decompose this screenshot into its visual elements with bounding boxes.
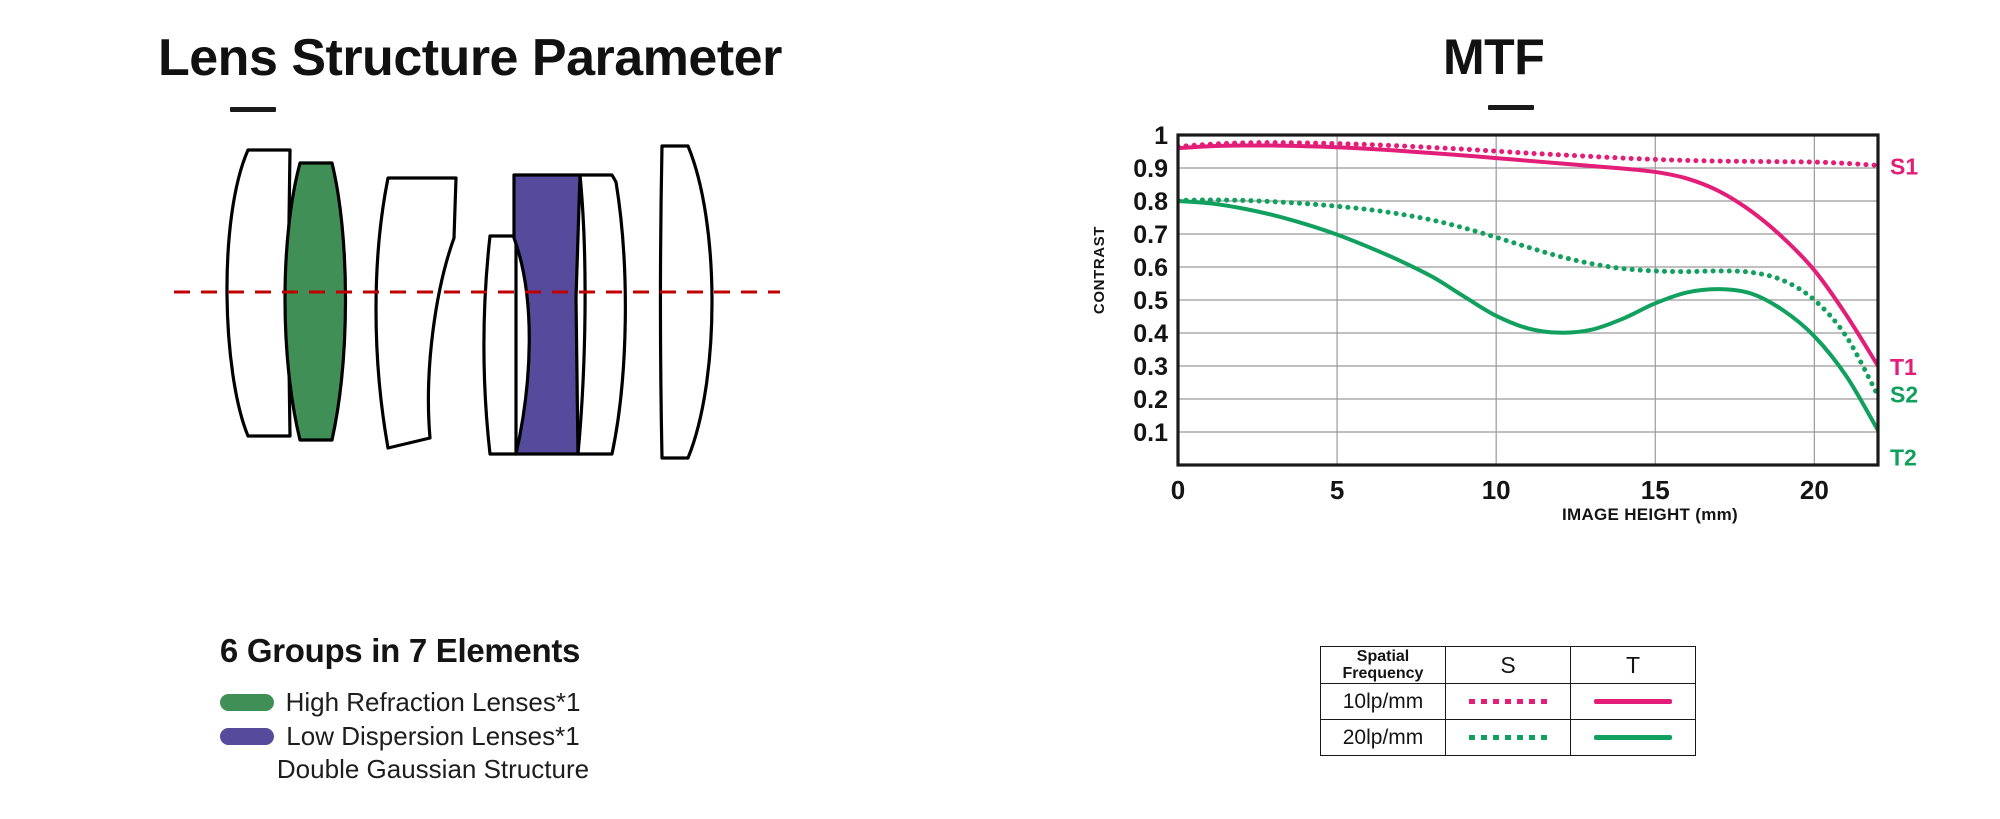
y-tick-label: 0.6 [1133,254,1168,282]
legend-header-s: S [1446,647,1571,684]
y-tick-label: 0.8 [1133,188,1168,216]
lens-element-4 [484,236,516,454]
dotted-green-line-sample [1469,735,1547,740]
legend-sample-t-20lpmm [1571,720,1696,756]
legend-sample-t-10lpmm [1571,684,1696,720]
legend-header-spatial-frequency: Spatial Frequency [1321,647,1446,684]
x-tick-label: 20 [1800,475,1829,505]
legend-header-line-1: Spatial [1321,648,1445,665]
x-tick-label: 5 [1330,475,1344,505]
y-axis-title: CONTRAST [1091,226,1108,314]
series-end-label-s2: S2 [1890,382,1918,408]
high-refraction-color-swatch [220,694,274,711]
groups-elements-caption: 6 Groups in 7 Elements [0,632,800,670]
lens-material-legend: High Refraction Lenses*1 Low Dispersion … [0,687,800,786]
double-gaussian-label: Double Gaussian Structure [277,754,589,786]
legend-frequency-20lpmm: 20lp/mm [1321,720,1446,756]
lens-element-5-low-dispersion [514,175,580,454]
lens-element-3 [376,178,456,448]
y-tick-label: 0.1 [1133,419,1168,447]
legend-sample-s-10lpmm [1446,684,1571,720]
low-dispersion-label: Low Dispersion Lenses*1 [286,721,579,753]
x-axis-title: IMAGE HEIGHT (mm) [1562,505,1738,524]
lens-title-underline-rule [230,107,276,112]
legend-sample-s-20lpmm [1446,720,1571,756]
legend-header-row: Spatial Frequency S T [1321,647,1696,684]
x-tick-label: 15 [1641,475,1670,505]
y-tick-label: 0.3 [1133,353,1168,381]
legend-frequency-10lpmm: 10lp/mm [1321,684,1446,720]
chart-series-end-labels: S1T1S2T2 [1890,153,1918,470]
legend-header-t: T [1571,647,1696,684]
series-end-label-t1: T1 [1890,354,1917,380]
legend-row-low-dispersion: Low Dispersion Lenses*1 [220,721,579,753]
mtf-chart: CONTRAST 0.10.20.30.40.50.60.70.80.91 05… [1090,110,1990,630]
high-refraction-label: High Refraction Lenses*1 [286,687,581,719]
series-line-t2 [1178,201,1878,430]
y-tick-label: 0.9 [1133,155,1168,183]
dotted-pink-line-sample [1469,699,1547,704]
legend-header-line-2: Frequency [1321,665,1445,682]
legend-row-double-gaussian: Double Gaussian Structure [211,754,589,786]
y-tick-label: 1 [1154,122,1168,150]
mtf-title: MTF [1443,28,1544,86]
solid-pink-line-sample [1594,699,1672,704]
series-end-label-s1: S1 [1890,153,1918,179]
legend-row-high-refraction: High Refraction Lenses*1 [220,687,581,719]
infographic-page: Lens Structure Parameter 6 Groups in 7 E… [0,0,2000,819]
lens-element-2-high-refraction [285,163,346,440]
solid-green-line-sample [1594,735,1672,740]
y-tick-label: 0.7 [1133,221,1168,249]
series-end-label-t2: T2 [1890,444,1917,470]
mtf-legend-table: Spatial Frequency S T 10lp/mm 20lp/mm [1320,646,1696,756]
lens-element-6 [578,175,625,454]
y-tick-label: 0.5 [1133,287,1168,315]
y-axis-tick-labels: 0.10.20.30.40.50.60.70.80.91 [1133,122,1168,447]
x-tick-label: 0 [1171,475,1185,505]
lens-cross-section-diagram [160,118,800,468]
y-tick-label: 0.2 [1133,386,1168,414]
x-axis-tick-labels: 05101520 [1171,475,1829,505]
lens-element-7 [661,146,713,458]
low-dispersion-color-swatch [220,728,274,745]
table-row: 10lp/mm [1321,684,1696,720]
y-tick-label: 0.4 [1133,320,1168,348]
chart-gridlines [1178,135,1878,465]
x-tick-label: 10 [1482,475,1511,505]
table-row: 20lp/mm [1321,720,1696,756]
lens-structure-title: Lens Structure Parameter [158,28,782,88]
chart-series-lines [1178,143,1878,431]
